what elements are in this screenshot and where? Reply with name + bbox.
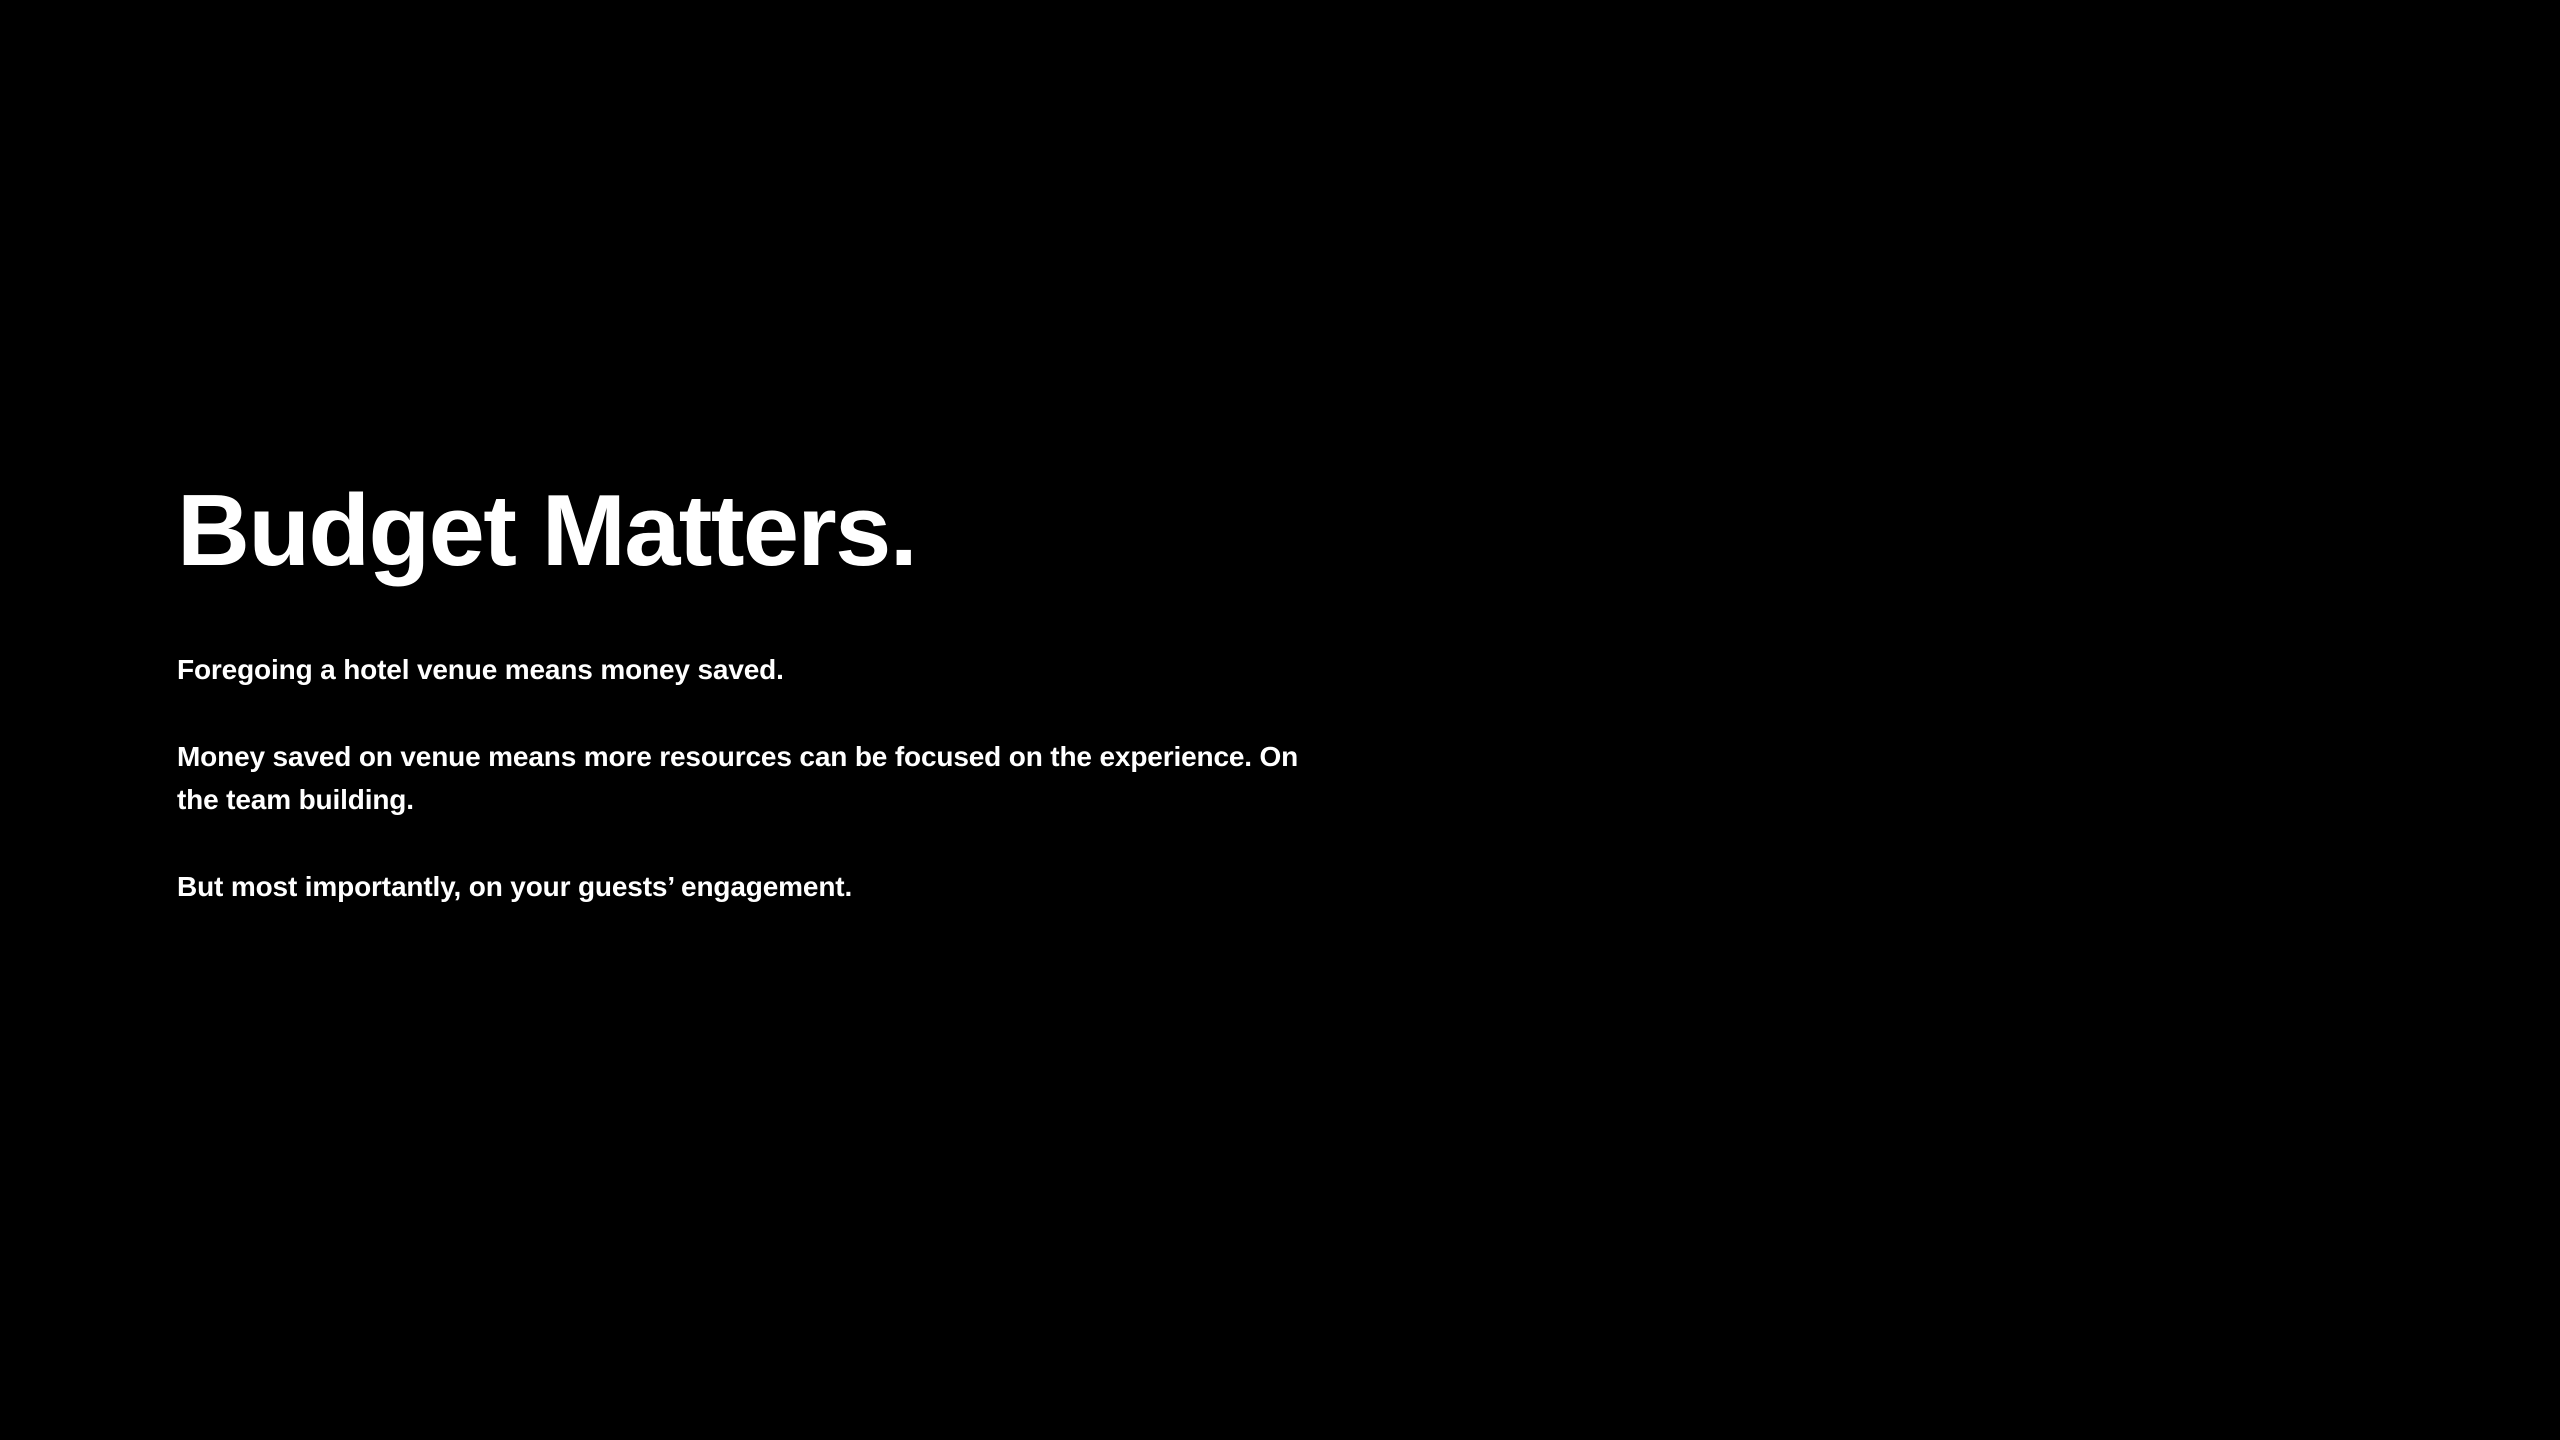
slide-body-text: Foregoing a hotel venue means money save…	[177, 648, 1347, 908]
slide-canvas: Budget Matters. Foregoing a hotel venue …	[0, 0, 2560, 1440]
slide-content-block: Budget Matters. Foregoing a hotel venue …	[177, 478, 1347, 908]
slide-paragraph-3: But most importantly, on your guests’ en…	[177, 865, 1347, 909]
slide-paragraph-2: Money saved on venue means more resource…	[177, 735, 1347, 822]
slide-paragraph-1: Foregoing a hotel venue means money save…	[177, 648, 1347, 692]
page-title: Budget Matters.	[177, 478, 1347, 585]
